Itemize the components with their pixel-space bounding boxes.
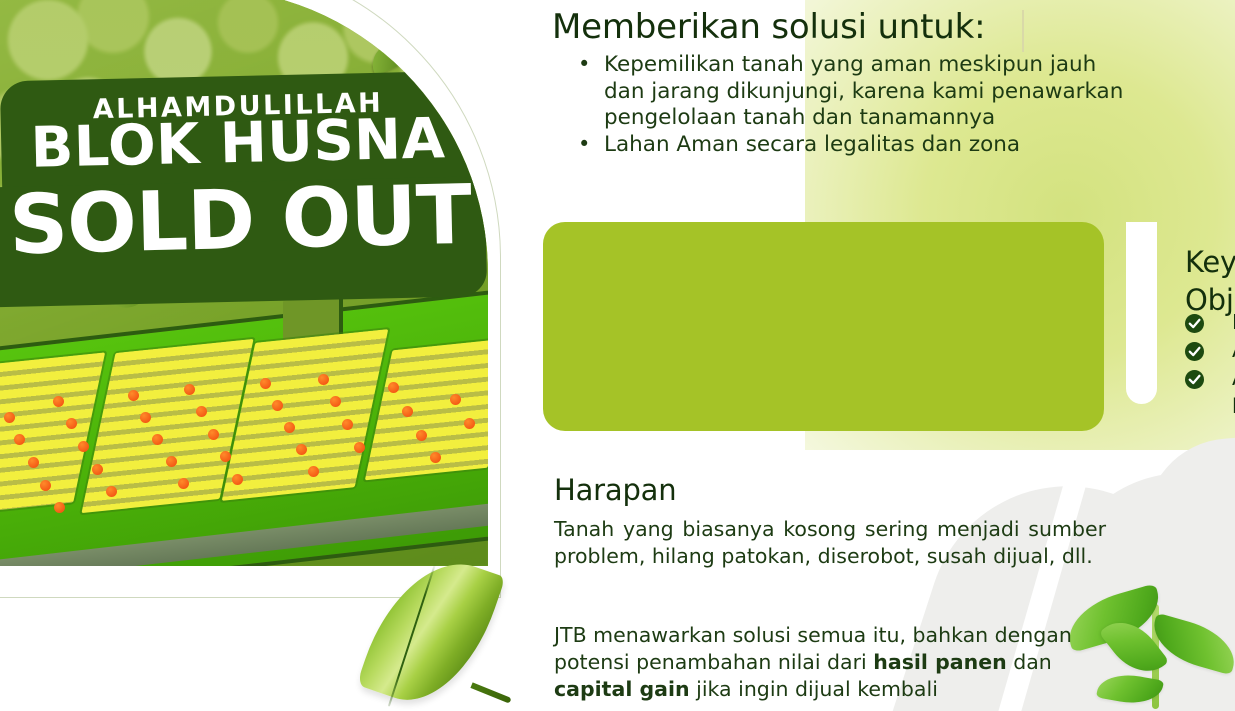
plot-marker-dot (92, 464, 103, 475)
harapan-paragraph-2: JTB menawarkan solusi semua itu, bahkan … (554, 622, 1114, 703)
plot-marker-dot (14, 434, 25, 445)
key-objects-list: Kavling Kelengkeng Produktif Agrowisata … (1185, 308, 1235, 420)
plot-marker-dot (196, 406, 207, 417)
plot-marker-dot (106, 486, 117, 497)
site-plan-graphic (0, 286, 488, 566)
plot-marker-dot (318, 374, 329, 385)
plot-marker-dot (220, 451, 231, 462)
plot-marker-dot (330, 396, 341, 407)
check-circle-icon (1185, 368, 1204, 387)
plot-marker-dot (464, 418, 475, 429)
plot-marker-dot (28, 457, 39, 468)
plot-marker-dot (430, 452, 441, 463)
plot-marker-dot (232, 474, 243, 485)
plot-marker-dot (260, 378, 271, 389)
check-circle-icon (1185, 312, 1204, 331)
list-item: Ahli kelengkeng dan landscape yang berko… (1185, 364, 1235, 420)
plot-marker-dot (178, 478, 189, 489)
check-circle-icon (1185, 340, 1204, 359)
plot-marker-dot (140, 412, 151, 423)
blok-husna-photo: ALHAMDULILLAH BLOK HUSNA SOLD OUT (0, 0, 488, 566)
plot-marker-dot (416, 430, 427, 441)
plot-marker-dot (78, 441, 89, 452)
plot-marker-dot (54, 502, 65, 513)
plot-marker-dot (450, 394, 461, 405)
slide-content-column: Memberikan solusi untuk: Kepemilikan tan… (552, 0, 1152, 711)
plot-marker-dot (53, 396, 64, 407)
list-item: Agrowisata alam nan indah (1185, 336, 1235, 364)
solusi-bullet-list: Kepemilikan tanah yang aman meskipun jau… (566, 52, 1126, 158)
plot-marker-dot (308, 466, 319, 477)
plot-marker-dot (296, 444, 307, 455)
plot-marker-dot (272, 400, 283, 411)
photo-card-frame: ALHAMDULILLAH BLOK HUSNA SOLD OUT (0, 0, 501, 598)
photo-headline-big: SOLD OUT (0, 167, 488, 274)
plot-marker-dot (166, 456, 177, 467)
harapan-paragraph-1: Tanah yang biasanya kosong sering menjad… (554, 516, 1106, 569)
list-item: Kavling Kelengkeng Produktif (1185, 308, 1235, 336)
key-objects-card (543, 222, 1104, 431)
harapan-title: Harapan (554, 472, 676, 508)
leaf-stem-icon (470, 682, 511, 703)
plot-marker-dot (208, 429, 219, 440)
plot-marker-dot (284, 422, 295, 433)
plot-marker-dot (388, 382, 399, 393)
plot-marker-dot (66, 418, 77, 429)
plot-marker-dot (152, 434, 163, 445)
plot-marker-dot (184, 384, 195, 395)
plot-marker-dot (4, 412, 15, 423)
list-item: Lahan Aman secara legalitas dan zona (566, 132, 1126, 159)
key-objects-accent-bar (1126, 222, 1157, 404)
plot-marker-dot (342, 419, 353, 430)
plot-marker-dot (354, 442, 365, 453)
plot-marker-dot (402, 406, 413, 417)
page-title: Memberikan solusi untuk: (552, 6, 985, 48)
text-cursor-caret[interactable] (1022, 10, 1024, 52)
list-item: Kepemilikan tanah yang aman meskipun jau… (566, 52, 1126, 132)
plot-marker-dot (40, 480, 51, 491)
plot-marker-dot (128, 390, 139, 401)
presentation-slide: ALHAMDULILLAH BLOK HUSNA SOLD OUT Member… (0, 0, 1235, 711)
